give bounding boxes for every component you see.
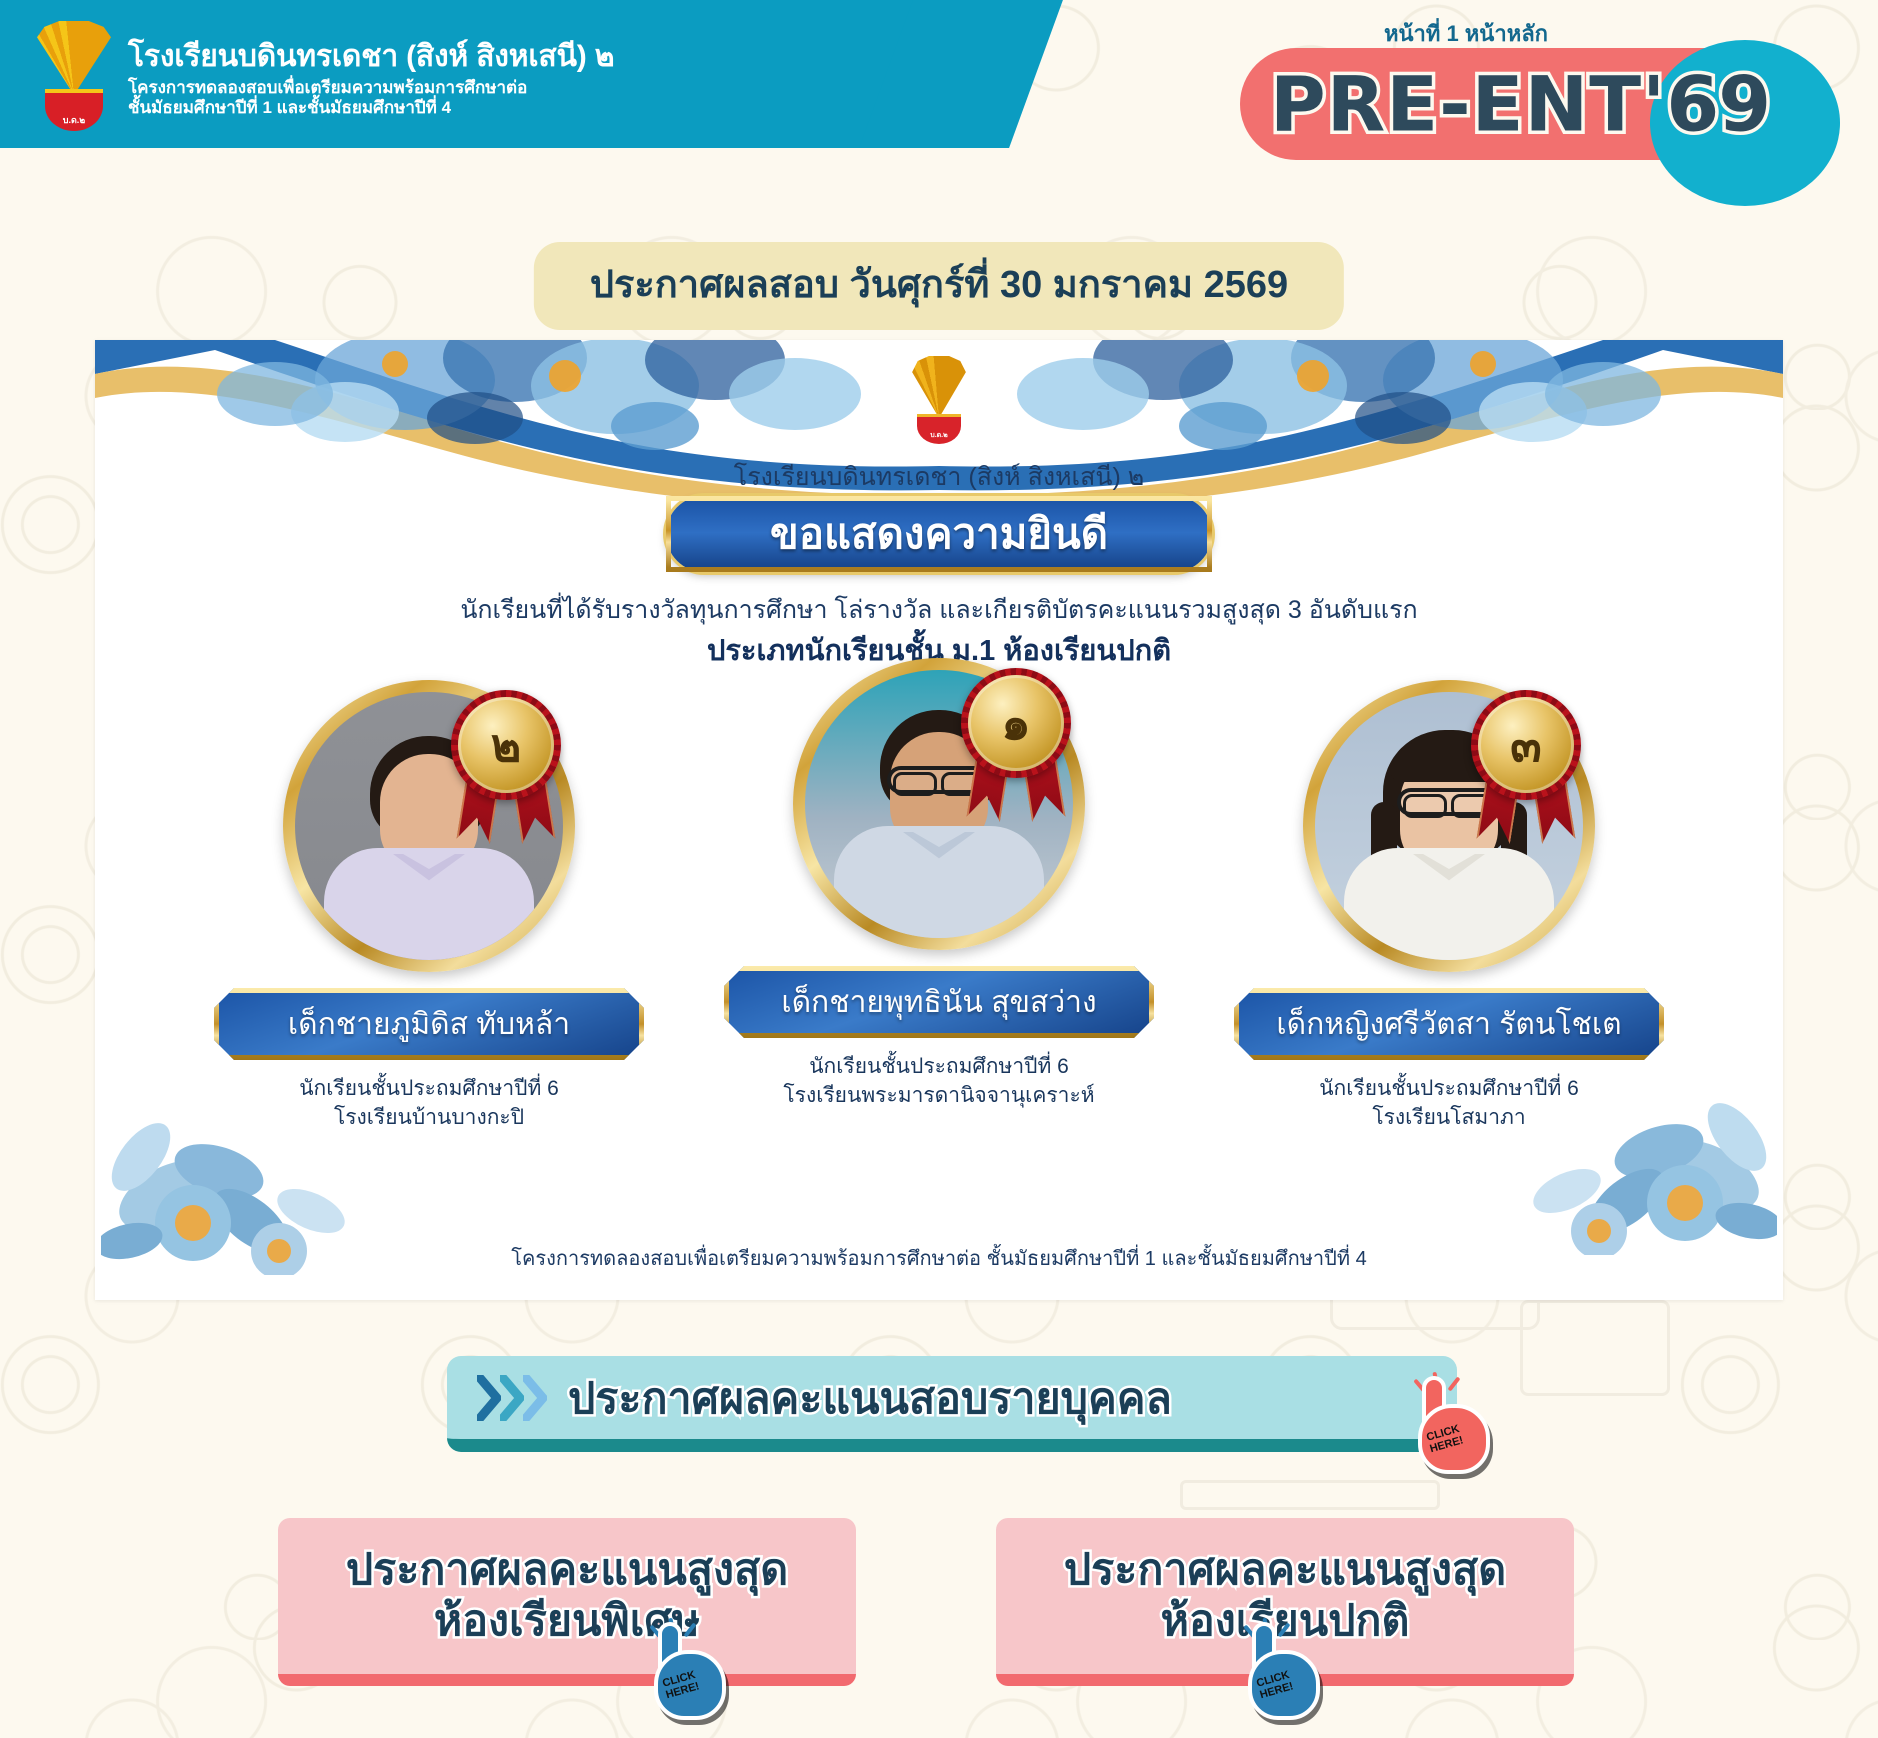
winner-name: เด็กชายภูมิดิส ทับหล้า [288,1001,570,1048]
winner-name: เด็กชายพุทธินัน สุขสว่าง [781,979,1096,1026]
click-here-cursor-icon[interactable]: CLICKHERE! [648,1618,734,1724]
rank-numeral: ๓ [1510,722,1541,768]
logo-text: PRE-ENT'69 [1270,60,1770,149]
winner-details: นักเรียนชั้นประถมศึกษาปีที่ 6 โรงเรียนโส… [1214,1074,1684,1133]
certificate-subtitle-1: นักเรียนที่ได้รับรางวัลทุนการศึกษา โล่รา… [95,590,1783,630]
winner-details: นักเรียนชั้นประถมศึกษาปีที่ 6 โรงเรียนบ้… [194,1074,664,1133]
announcement-date-banner: ประกาศผลสอบ วันศุกร์ที่ 30 มกราคม 2569 [534,242,1344,330]
project-line-1: โครงการทดลองสอบเพื่อเตรียมความพร้อมการศึ… [128,78,614,99]
rank-numeral: ๑ [1001,700,1030,746]
site-header: บ.ด.๒ โรงเรียนบดินทรเดชา (สิงห์ สิงหเสนี… [0,0,940,148]
winner-photo-frame: ๑ [793,658,1085,950]
rank-rosette-icon: ๓ [1463,690,1589,816]
winners-row: ๒ เด็กชายภูมิดิส ทับหล้า นักเรียนชั้นประ… [95,680,1783,1133]
individual-results-button[interactable]: ประกาศผลคะแนนสอบรายบุคคล [447,1356,1457,1452]
chevron-right-icon-1 [477,1375,497,1421]
click-here-cursor-icon[interactable]: CLICKHERE! [1242,1618,1328,1724]
special-class-line-1: ประกาศผลคะแนนสูงสุด [346,1546,788,1594]
chevron-right-icon-3 [523,1375,543,1421]
rank-rosette-icon: ๑ [953,668,1079,794]
logo-main-text: PRE-ENT' [1270,60,1666,149]
announcement-date-text: ประกาศผลสอบ วันศุกร์ที่ 30 มกราคม 2569 [590,264,1288,306]
winner-card: ๓ เด็กหญิงศรีวัตสา รัตนโชเต นักเรียนชั้น… [1214,680,1684,1133]
normal-class-line-1: ประกาศผลคะแนนสูงสุด [1064,1546,1506,1594]
pre-ent-logo: PRE-ENT'69 [1240,40,1840,168]
winner-school: โรงเรียนโสมาภา [1214,1103,1684,1132]
winner-card: ๑ เด็กชายพุทธินัน สุขสว่าง นักเรียนชั้นป… [704,658,1174,1111]
certificate-school-name: โรงเรียนบดินทรเดชา (สิงห์ สิงหเสนี) ๒ [95,457,1783,497]
chevron-group [477,1375,546,1421]
winner-name: เด็กหญิงศรีวัตสา รัตนโชเต [1276,1001,1621,1048]
winner-grade: นักเรียนชั้นประถมศึกษาปีที่ 6 [704,1052,1174,1081]
bg-decoration-2 [1520,1300,1670,1396]
congratulations-text: ขอแสดงความยินดี [770,501,1108,567]
certificate-footer: โครงการทดลองสอบเพื่อเตรียมความพร้อมการศึ… [95,1242,1783,1274]
logo-year-text: 69 [1666,60,1770,149]
emblem-label: บ.ด.๒ [63,113,86,131]
winner-photo-frame: ๒ [283,680,575,972]
congratulations-banner: ขอแสดงความยินดี [666,496,1212,572]
project-line-2: ชั้นมัธยมศึกษาปีที่ 1 และชั้นมัธยมศึกษาป… [128,98,614,119]
winner-nameplate: เด็กหญิงศรีวัตสา รัตนโชเต [1234,988,1664,1060]
winner-details: นักเรียนชั้นประถมศึกษาปีที่ 6 โรงเรียนพร… [704,1052,1174,1111]
winner-nameplate: เด็กชายภูมิดิส ทับหล้า [214,988,644,1060]
individual-results-label: ประกาศผลคะแนนสอบรายบุคคล [568,1364,1172,1432]
winner-nameplate: เด็กชายพุทธินัน สุขสว่าง [724,966,1154,1038]
school-name: โรงเรียนบดินทรเดชา (สิงห์ สิงหเสนี) ๒ [128,39,614,76]
bg-decoration-3 [1180,1480,1440,1510]
certificate-card: บ.ด.๒ โรงเรียนบดินทรเดชา (สิงห์ สิงหเสนี… [95,340,1783,1300]
rank-numeral: ๒ [491,722,521,768]
chevron-right-icon-2 [500,1375,520,1421]
click-here-cursor-icon[interactable]: CLICKHERE! [1412,1372,1498,1478]
winner-card: ๒ เด็กชายภูมิดิส ทับหล้า นักเรียนชั้นประ… [194,680,664,1133]
winner-photo-frame: ๓ [1303,680,1595,972]
winner-school: โรงเรียนพระมารดานิจจานุเคราะห์ [704,1081,1174,1110]
crest-label: บ.ด.๒ [930,430,948,444]
winner-grade: นักเรียนชั้นประถมศึกษาปีที่ 6 [1214,1074,1684,1103]
special-class-top-scores-button[interactable]: ประกาศผลคะแนนสูงสุดห้องเรียนพิเศษ [278,1518,856,1686]
winner-grade: นักเรียนชั้นประถมศึกษาปีที่ 6 [194,1074,664,1103]
school-emblem-icon: บ.ด.๒ [34,19,114,139]
winner-school: โรงเรียนบ้านบางกะปิ [194,1103,664,1132]
rank-rosette-icon: ๒ [443,690,569,816]
certificate-crest-icon: บ.ด.๒ [908,356,970,450]
